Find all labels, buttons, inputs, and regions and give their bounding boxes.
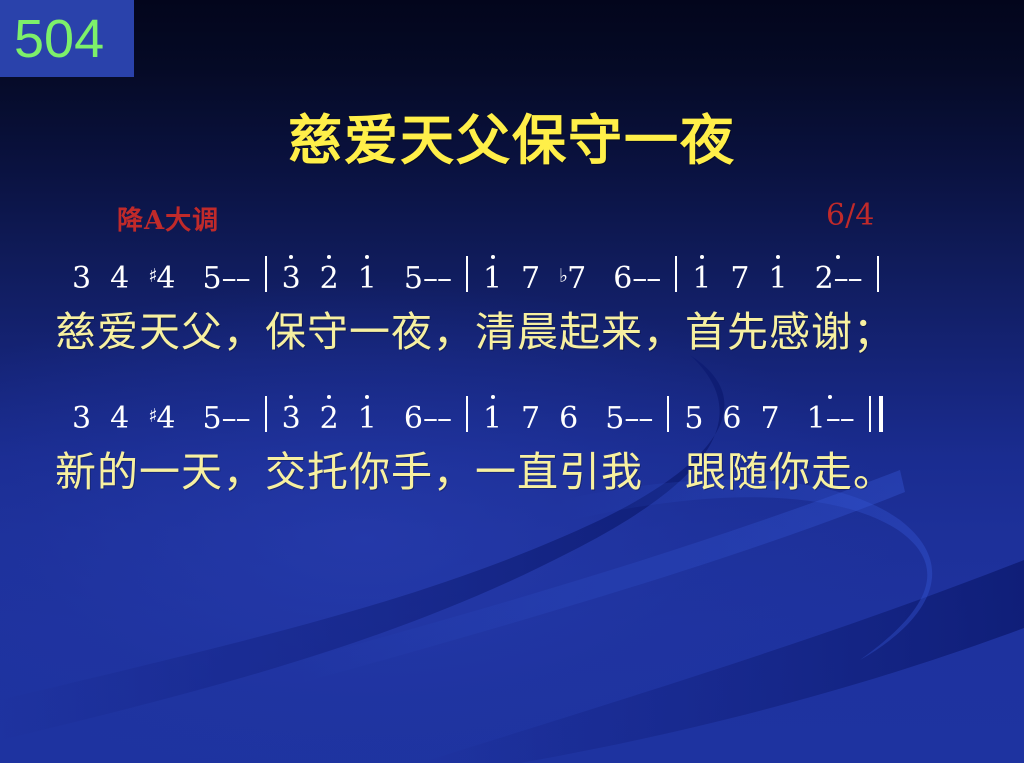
note: 3 xyxy=(70,264,93,294)
duration-dashes: –– xyxy=(222,264,250,294)
measure: 1765–– xyxy=(481,404,654,434)
duration-dashes: –– xyxy=(632,264,660,294)
note-numeral: 4 xyxy=(110,264,129,294)
duration-dashes: –– xyxy=(624,404,652,434)
note-numeral: 3 xyxy=(72,404,91,434)
note: 1–– xyxy=(805,404,856,434)
note-numeral: 1 xyxy=(483,404,502,434)
note-numeral: 4 xyxy=(110,404,129,434)
note: 1 xyxy=(690,264,713,294)
note-numeral: 3 xyxy=(282,404,301,434)
note: 7 xyxy=(728,264,751,294)
measure: 34♯45–– xyxy=(70,264,252,294)
notation-row: 34♯45––3216––1765––5671–– xyxy=(0,388,1024,434)
note: 5–– xyxy=(200,404,251,434)
note: 5 xyxy=(682,404,705,434)
note: 4 xyxy=(108,264,131,294)
page-title: 慈爱天父保守一夜 xyxy=(0,96,1024,175)
duration-dashes: –– xyxy=(826,404,854,434)
note: 6 xyxy=(720,404,743,434)
barline xyxy=(265,396,267,432)
note-numeral: 2 xyxy=(320,264,339,294)
note: 6–– xyxy=(611,264,662,294)
note-numeral: 1 xyxy=(358,264,377,294)
measure: 1712–– xyxy=(690,264,863,294)
note-numeral: 2 xyxy=(320,404,339,434)
final-barline xyxy=(869,396,883,432)
measure: 3215–– xyxy=(280,264,453,294)
barline xyxy=(877,256,879,292)
time-signature-label: 6/4 xyxy=(826,198,874,233)
note-numeral: 6 xyxy=(722,404,741,434)
measure: 34♯45–– xyxy=(70,404,252,434)
barline xyxy=(667,396,669,432)
barline xyxy=(466,396,468,432)
note-numeral: 5 xyxy=(605,404,624,434)
barline xyxy=(466,256,468,292)
hymn-number-text: 504 xyxy=(0,12,104,66)
note: 7 xyxy=(519,264,542,294)
barline xyxy=(675,256,677,292)
music-system-1: 34♯45––3215––17♭76––1712––慈爱天父，保守一夜，清晨起来… xyxy=(0,248,1024,358)
note-numeral: 2 xyxy=(815,264,834,294)
note: 1 xyxy=(481,404,504,434)
note: 2–– xyxy=(813,264,864,294)
lyrics-row: 新的一天，交托你手，一直引我 跟随你走。 xyxy=(0,438,1024,498)
note: 3 xyxy=(280,404,303,434)
note: 1 xyxy=(356,404,379,434)
music-system-2: 34♯45––3216––1765––5671––新的一天，交托你手，一直引我 … xyxy=(0,388,1024,498)
note: 2 xyxy=(318,264,341,294)
note: 2 xyxy=(318,404,341,434)
barline xyxy=(265,256,267,292)
note: 3 xyxy=(280,264,303,294)
note-numeral: 6 xyxy=(559,404,578,434)
note-numeral: 1 xyxy=(358,404,377,434)
note: 1 xyxy=(356,264,379,294)
note-numeral: 7 xyxy=(521,264,540,294)
note: ♭7 xyxy=(557,264,588,294)
note-numeral: 7 xyxy=(761,404,780,434)
note-numeral: 7 xyxy=(521,404,540,434)
note: 7 xyxy=(759,404,782,434)
note: 4 xyxy=(108,404,131,434)
key-signature-label: 降A大调 xyxy=(117,200,219,237)
duration-dashes: –– xyxy=(423,264,451,294)
note-numeral: 7 xyxy=(730,264,749,294)
note-numeral: 4 xyxy=(156,404,175,434)
slide-canvas: 504 慈爱天父保守一夜 降A大调 6/4 34♯45––3215––17♭76… xyxy=(0,0,1024,763)
note-numeral: 3 xyxy=(72,264,91,294)
note-numeral: 5 xyxy=(684,404,703,434)
note-numeral: 6 xyxy=(613,264,632,294)
note-numeral: 1 xyxy=(807,404,826,434)
note-numeral: 7 xyxy=(567,264,586,294)
duration-dashes: –– xyxy=(834,264,862,294)
note-numeral: 1 xyxy=(483,264,502,294)
note: ♯4 xyxy=(146,264,177,294)
note: 7 xyxy=(519,404,542,434)
measure: 3216–– xyxy=(280,404,453,434)
notation-row: 34♯45––3215––17♭76––1712–– xyxy=(0,248,1024,294)
hymn-number-badge: 504 xyxy=(0,0,134,77)
note: ♯4 xyxy=(146,404,177,434)
note-numeral: 1 xyxy=(768,264,787,294)
note: 5–– xyxy=(200,264,251,294)
note: 6 xyxy=(557,404,580,434)
note-numeral: 5 xyxy=(202,264,221,294)
note-numeral: 6 xyxy=(404,404,423,434)
note: 3 xyxy=(70,404,93,434)
note: 1 xyxy=(766,264,789,294)
measure: 17♭76–– xyxy=(481,264,662,294)
note: 5–– xyxy=(402,264,453,294)
note-numeral: 1 xyxy=(692,264,711,294)
note: 5–– xyxy=(603,404,654,434)
note-numeral: 5 xyxy=(202,404,221,434)
note-numeral: 5 xyxy=(404,264,423,294)
duration-dashes: –– xyxy=(222,404,250,434)
note: 6–– xyxy=(402,404,453,434)
note: 1 xyxy=(481,264,504,294)
note-numeral: 3 xyxy=(282,264,301,294)
duration-dashes: –– xyxy=(423,404,451,434)
lyrics-row: 慈爱天父，保守一夜，清晨起来，首先感谢； xyxy=(0,298,1024,358)
note-numeral: 4 xyxy=(156,264,175,294)
measure: 5671–– xyxy=(682,404,855,434)
